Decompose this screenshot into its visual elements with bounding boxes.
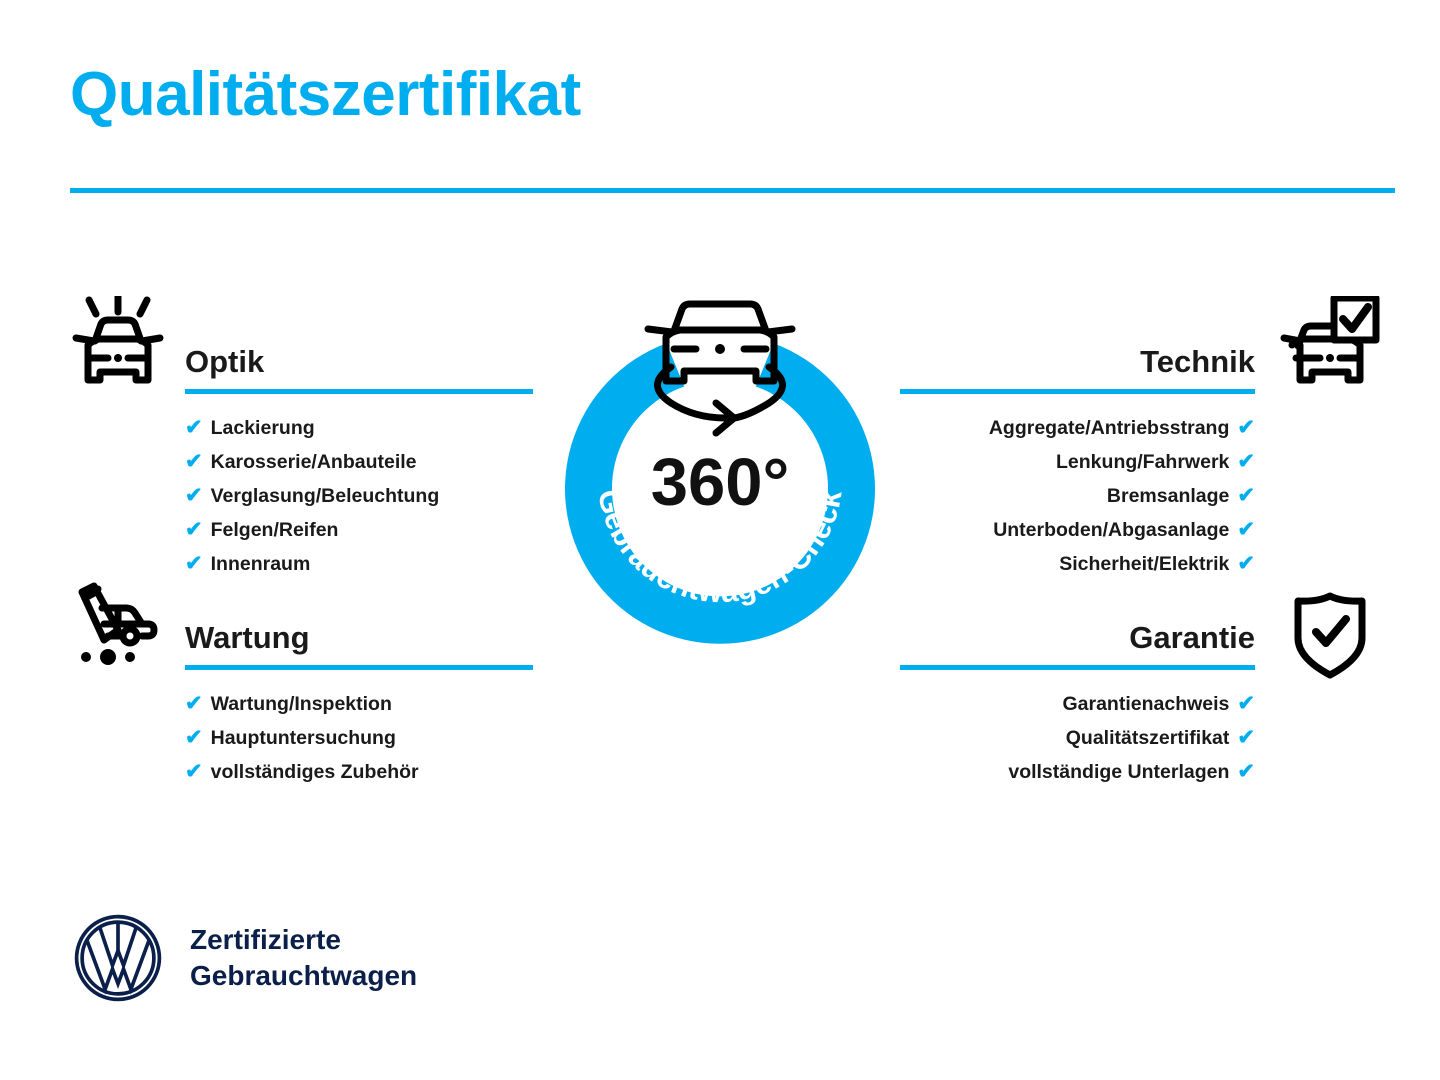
- header-divider: [70, 188, 1395, 193]
- section-technik-list: Aggregate/Antriebsstrang ✔ Lenkung/Fahrw…: [900, 411, 1255, 581]
- section-garantie-title: Garantie: [900, 618, 1255, 658]
- list-item: ✔ Verglasung/Beleuchtung: [185, 479, 533, 513]
- list-item-label: Verglasung/Beleuchtung: [211, 479, 440, 513]
- check-icon: ✔: [1237, 411, 1255, 445]
- check-icon: ✔: [185, 687, 203, 721]
- section-garantie-header: Garantie: [900, 618, 1255, 670]
- check-icon: ✔: [1237, 513, 1255, 547]
- list-item: Bremsanlage ✔: [900, 479, 1255, 513]
- footer-brand: Zertifizierte Gebrauchtwagen: [72, 912, 417, 1004]
- section-optik-divider: [185, 389, 533, 394]
- list-item-label: Sicherheit/Elektrik: [1059, 547, 1229, 581]
- list-item: Unterboden/Abgasanlage ✔: [900, 513, 1255, 547]
- list-item-label: Hauptuntersuchung: [211, 721, 396, 755]
- list-item-label: Wartung/Inspektion: [211, 687, 392, 721]
- list-item: Lenkung/Fahrwerk ✔: [900, 445, 1255, 479]
- section-wartung-list: ✔ Wartung/Inspektion ✔ Hauptuntersuchung…: [185, 687, 533, 789]
- section-wartung-title: Wartung: [185, 618, 533, 658]
- section-technik-divider: [900, 389, 1255, 394]
- list-item-label: Innenraum: [211, 547, 311, 581]
- check-icon: ✔: [185, 445, 203, 479]
- check-icon: ✔: [1237, 445, 1255, 479]
- section-optik-title: Optik: [185, 342, 533, 382]
- section-optik-list: ✔ Lackierung ✔ Karosserie/Anbauteile ✔ V…: [185, 411, 533, 581]
- list-item: vollständige Unterlagen ✔: [900, 755, 1255, 789]
- footer-brand-line1: Zertifizierte: [190, 922, 417, 958]
- list-item-label: Bremsanlage: [1107, 479, 1229, 513]
- list-item: ✔ Wartung/Inspektion: [185, 687, 533, 721]
- check-icon: ✔: [185, 513, 203, 547]
- list-item: ✔ Hauptuntersuchung: [185, 721, 533, 755]
- list-item-label: Aggregate/Antriebsstrang: [989, 411, 1230, 445]
- section-technik-title: Technik: [900, 342, 1255, 382]
- check-icon: ✔: [185, 755, 203, 789]
- section-technik: Technik Aggregate/Antriebsstrang ✔ Lenku…: [900, 342, 1255, 581]
- list-item-label: Felgen/Reifen: [211, 513, 339, 547]
- badge-center-text: 360°: [651, 445, 790, 520]
- list-item: Sicherheit/Elektrik ✔: [900, 547, 1255, 581]
- check-icon: ✔: [1237, 547, 1255, 581]
- list-item-label: Garantienachweis: [1062, 687, 1229, 721]
- volkswagen-logo: [72, 912, 164, 1004]
- list-item-label: vollständige Unterlagen: [1008, 755, 1229, 789]
- list-item: Aggregate/Antriebsstrang ✔: [900, 411, 1255, 445]
- check-icon: ✔: [185, 411, 203, 445]
- list-item: ✔ Lackierung: [185, 411, 533, 445]
- list-item: Garantienachweis ✔: [900, 687, 1255, 721]
- list-item: ✔ Karosserie/Anbauteile: [185, 445, 533, 479]
- check-icon: ✔: [1237, 721, 1255, 755]
- car-front-rotate-360-icon: [648, 304, 792, 433]
- list-item: ✔ Felgen/Reifen: [185, 513, 533, 547]
- gebrauchtwagen-check-badge: Gebrauchtwagen-Check 360°: [520, 280, 920, 680]
- section-wartung-divider: [185, 665, 533, 670]
- footer-brand-text: Zertifizierte Gebrauchtwagen: [190, 922, 417, 994]
- check-icon: ✔: [1237, 479, 1255, 513]
- section-garantie-divider: [900, 665, 1255, 670]
- section-wartung: Wartung ✔ Wartung/Inspektion ✔ Hauptunte…: [185, 618, 533, 789]
- car-front-shine-icon: [68, 296, 168, 392]
- section-optik: Optik ✔ Lackierung ✔ Karosserie/Anbautei…: [185, 342, 533, 581]
- section-garantie: Garantie Garantienachweis ✔ Qualitätszer…: [900, 618, 1255, 789]
- check-icon: ✔: [185, 479, 203, 513]
- list-item-label: Karosserie/Anbauteile: [211, 445, 417, 479]
- footer-brand-line2: Gebrauchtwagen: [190, 958, 417, 994]
- certificate-page: Qualitätszertifikat Optik: [0, 0, 1440, 1080]
- section-technik-header: Technik: [900, 342, 1255, 394]
- list-item: Qualitätszertifikat ✔: [900, 721, 1255, 755]
- section-garantie-list: Garantienachweis ✔ Qualitätszertifikat ✔…: [900, 687, 1255, 789]
- list-item-label: Qualitätszertifikat: [1066, 721, 1230, 755]
- list-item-label: Unterboden/Abgasanlage: [993, 513, 1229, 547]
- shield-check-icon: [1292, 592, 1368, 680]
- list-item-label: Lackierung: [211, 411, 315, 445]
- pencil-car-service-icon: [64, 578, 168, 670]
- check-icon: ✔: [185, 547, 203, 581]
- section-optik-header: Optik: [185, 342, 533, 394]
- list-item: ✔ vollständiges Zubehör: [185, 755, 533, 789]
- check-icon: ✔: [185, 721, 203, 755]
- check-icon: ✔: [1237, 755, 1255, 789]
- list-item-label: vollständiges Zubehör: [211, 755, 419, 789]
- car-front-checkbox-icon: [1280, 296, 1380, 392]
- list-item: ✔ Innenraum: [185, 547, 533, 581]
- section-wartung-header: Wartung: [185, 618, 533, 670]
- check-icon: ✔: [1237, 687, 1255, 721]
- page-title: Qualitätszertifikat: [70, 62, 581, 127]
- list-item-label: Lenkung/Fahrwerk: [1056, 445, 1229, 479]
